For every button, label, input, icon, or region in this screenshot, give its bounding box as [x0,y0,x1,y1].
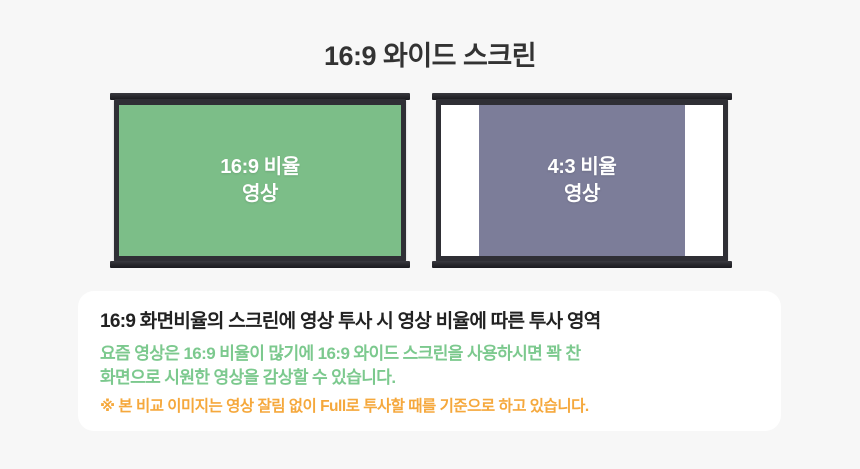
card-note-text: ※ 본 비교 이미지는 영상 잘림 없이 Full로 투사할 때를 기준으로 하… [100,396,759,418]
screen-unit-16-9: 16:9 비율 영상 [110,93,410,268]
screen-label-16-9: 16:9 비율 영상 [220,154,300,207]
description-card: 16:9 화면비율의 스크린에 영상 투사 시 영상 비율에 따른 투사 영역 … [78,291,781,431]
screen-frame-4-3: 4:3 비율 영상 [436,99,728,262]
card-heading: 16:9 화면비율의 스크린에 영상 투사 시 영상 비율에 따른 투사 영역 [100,309,759,335]
screen-surface-16-9: 16:9 비율 영상 [119,105,401,256]
screen-surface-4-3: 4:3 비율 영상 [441,105,723,256]
screen-unit-4-3: 4:3 비율 영상 [432,93,732,268]
screen-casing-bar-bottom [432,261,732,268]
card-body-text: 요즘 영상은 16:9 비율이 많기에 16:9 와이드 스크린을 사용하시면 … [100,342,759,390]
screen-casing-bar-bottom [110,261,410,268]
screen-frame-16-9: 16:9 비율 영상 [114,99,406,262]
screen-comparison: 16:9 비율 영상 4:3 비율 영상 [0,93,860,268]
screen-label-4-3: 4:3 비율 영상 [548,154,617,207]
page-title: 16:9 와이드 스크린 [0,34,860,73]
